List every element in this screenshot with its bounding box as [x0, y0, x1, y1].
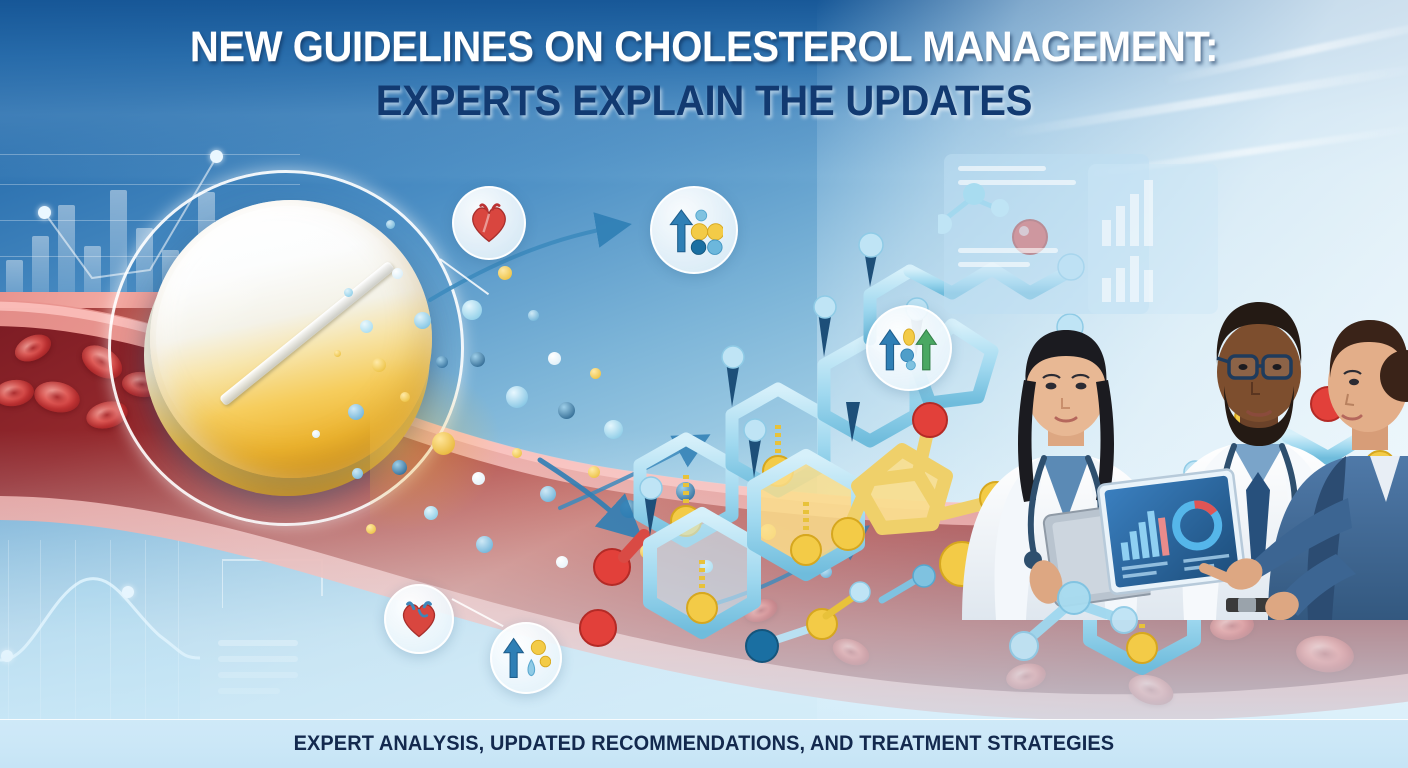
badge-heart-bottom[interactable]	[384, 584, 454, 654]
page-title-line2: EXPERTS EXPLAIN THE UPDATES	[49, 80, 1358, 124]
badge-ldl-increase-bottom[interactable]	[490, 622, 562, 694]
title-block: NEW GUIDELINES ON CHOLESTEROL MANAGEMENT…	[0, 26, 1408, 124]
foreground-molecule-accent	[1010, 560, 1180, 670]
footer-banner: EXPERT ANALYSIS, UPDATED RECOMMENDATIONS…	[0, 720, 1408, 768]
badge-ldl-increase-top[interactable]	[650, 186, 738, 274]
page-title-line1: NEW GUIDELINES ON CHOLESTEROL MANAGEMENT…	[49, 26, 1358, 70]
medical-professionals-group	[938, 150, 1408, 620]
footer-subtitle: EXPERT ANALYSIS, UPDATED RECOMMENDATIONS…	[294, 732, 1115, 756]
infographic-banner: NEW GUIDELINES ON CHOLESTEROL MANAGEMENT…	[0, 0, 1408, 768]
arrow-up-droplet-icon	[501, 635, 551, 681]
arrow-up-molecules-icon	[665, 204, 723, 256]
dual-arrow-molecule-icon	[879, 322, 939, 374]
badge-heart-top[interactable]	[452, 186, 526, 260]
heart-icon	[398, 598, 440, 640]
heart-icon	[467, 201, 511, 245]
